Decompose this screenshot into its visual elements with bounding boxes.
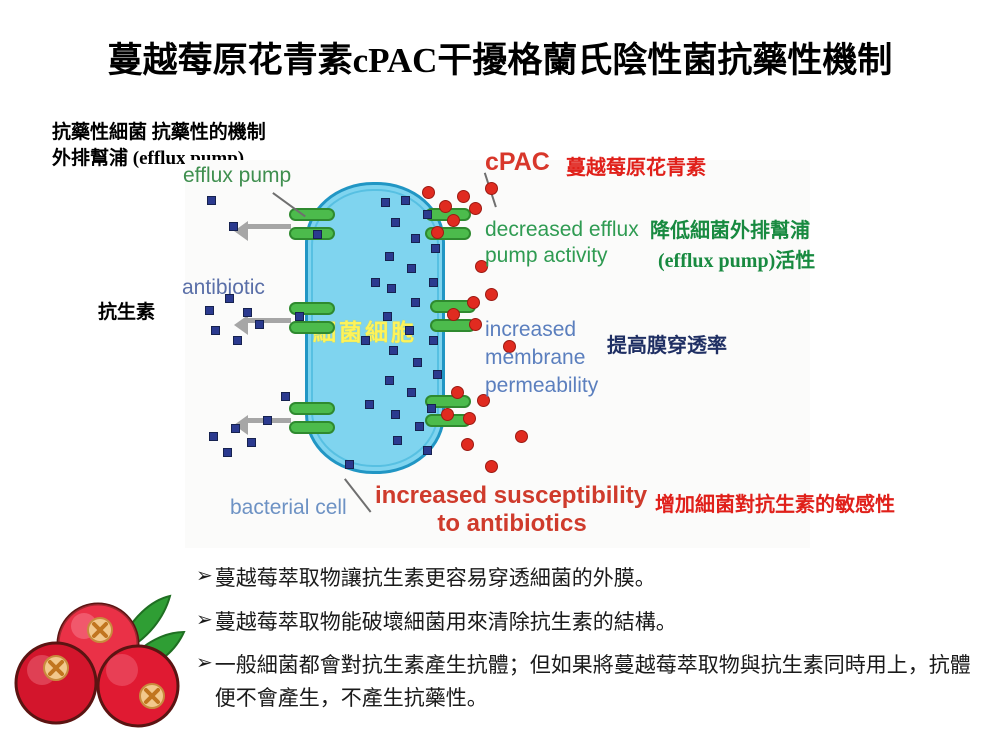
- cpac-particle: [422, 186, 435, 199]
- antibiotic-particle: [415, 422, 424, 431]
- antibiotic-particle: [391, 218, 400, 227]
- cpac-particle: [457, 190, 470, 203]
- antibiotic-particle: [423, 210, 432, 219]
- antibiotic-particle: [393, 436, 402, 445]
- antibiotic-particle: [243, 308, 252, 317]
- efflux-arrow-left-1: [247, 224, 291, 229]
- cpac-particle: [439, 200, 452, 213]
- antibiotic-particle: [407, 264, 416, 273]
- antibiotic-particle: [383, 312, 392, 321]
- antibiotic-particle: [411, 298, 420, 307]
- increased-susceptibility-label-line1: increased susceptibility: [375, 482, 647, 510]
- antibiotic-particle: [211, 326, 220, 335]
- list-item: ➢ 蔓越莓萃取物能破壞細菌用來清除抗生素的結構。: [196, 606, 986, 639]
- decreased-efflux-label-line2: pump activity: [485, 244, 608, 268]
- antibiotic-particle: [229, 222, 238, 231]
- susceptibility-annotation-cn: 增加細菌對抗生素的敏感性: [655, 492, 895, 519]
- leader-line-bacterial-cell: [344, 478, 371, 512]
- antibiotic-particle: [427, 404, 436, 413]
- cpac-label: cPAC: [485, 148, 550, 176]
- antibiotic-particle: [391, 410, 400, 419]
- antibiotic-particle: [431, 244, 440, 253]
- increased-permeability-label-line1: increased: [485, 318, 576, 342]
- antibiotic-particle: [389, 346, 398, 355]
- antibiotic-particle: [205, 306, 214, 315]
- bullet-list: ➢ 蔓越莓萃取物讓抗生素更容易穿透細菌的外膜。 ➢ 蔓越莓萃取物能破壞細菌用來清…: [196, 562, 986, 725]
- antibiotic-particle: [385, 376, 394, 385]
- bacterial-cell-label: bacterial cell: [230, 496, 347, 520]
- cpac-particle: [485, 288, 498, 301]
- antibiotic-particle: [231, 424, 240, 433]
- antibiotic-particle: [407, 388, 416, 397]
- antibiotic-particle: [385, 252, 394, 261]
- efflux-pump-left-1: [289, 208, 335, 242]
- antibiotic-particle: [295, 312, 304, 321]
- bullet-text: 蔓越莓萃取物讓抗生素更容易穿透細菌的外膜。: [215, 562, 986, 595]
- cpac-particle: [469, 318, 482, 331]
- list-item: ➢ 蔓越莓萃取物讓抗生素更容易穿透細菌的外膜。: [196, 562, 986, 595]
- antibiotic-particle: [381, 198, 390, 207]
- antibiotic-label: antibiotic: [182, 276, 265, 300]
- antibiotic-particle: [411, 234, 420, 243]
- antibiotic-particle: [423, 446, 432, 455]
- cpac-particle: [461, 438, 474, 451]
- increased-permeability-label-line3: permeability: [485, 374, 598, 398]
- cpac-particle: [451, 386, 464, 399]
- cpac-particle: [469, 202, 482, 215]
- antibiotic-particle: [433, 370, 442, 379]
- bullet-marker-icon: ➢: [196, 649, 213, 678]
- cpac-particle: [447, 214, 460, 227]
- permeability-annotation-cn: 提高膜穿透率: [607, 333, 727, 360]
- decreased-efflux-label-line1: decreased efflux: [485, 218, 639, 242]
- decreased-efflux-annotation-cn-line1: 降低細菌外排幫浦: [650, 218, 810, 245]
- antibiotic-particle: [233, 336, 242, 345]
- antibiotic-particle: [223, 448, 232, 457]
- antibiotic-label-cn: 抗生素: [98, 300, 155, 326]
- antibiotic-particle: [281, 392, 290, 401]
- list-item: ➢ 一般細菌都會對抗生素產生抗體；但如果將蔓越莓萃取物與抗生素同時用上，抗體便不…: [196, 649, 986, 714]
- antibiotic-particle: [209, 432, 218, 441]
- bullet-marker-icon: ➢: [196, 562, 213, 591]
- cpac-particle: [515, 430, 528, 443]
- efflux-pump-left-3: [289, 402, 335, 436]
- increased-susceptibility-label-line2: to antibiotics: [375, 510, 649, 538]
- antibiotic-particle: [313, 230, 322, 239]
- slide: 蔓越莓原花青素cPAC干擾格蘭氏陰性菌抗藥性機制 抗藥性細菌 抗藥性的機制 外排…: [0, 0, 1000, 750]
- page-title: 蔓越莓原花青素cPAC干擾格蘭氏陰性菌抗藥性機制: [0, 32, 1000, 83]
- cpac-particle: [467, 296, 480, 309]
- bullet-marker-icon: ➢: [196, 606, 213, 635]
- cranberry-illustration: [12, 578, 187, 738]
- cpac-particle: [485, 182, 498, 195]
- increased-permeability-label-line2: membrane: [485, 346, 585, 370]
- antibiotic-particle: [429, 336, 438, 345]
- efflux-arrow-left-2: [247, 318, 291, 323]
- bullet-text: 一般細菌都會對抗生素產生抗體；但如果將蔓越莓萃取物與抗生素同時用上，抗體便不會產…: [215, 649, 986, 714]
- cpac-particle: [447, 308, 460, 321]
- antibiotic-particle: [207, 196, 216, 205]
- antibiotic-particle: [247, 438, 256, 447]
- cpac-particle: [431, 226, 444, 239]
- antibiotic-particle: [255, 320, 264, 329]
- antibiotic-particle: [371, 278, 380, 287]
- cpac-annotation-cn: 蔓越莓原花青素: [566, 155, 706, 182]
- mechanism-heading-line1: 抗藥性細菌 抗藥性的機制: [52, 120, 266, 146]
- antibiotic-particle: [361, 336, 370, 345]
- antibiotic-particle: [365, 400, 374, 409]
- antibiotic-particle: [263, 416, 272, 425]
- antibiotic-particle: [387, 284, 396, 293]
- efflux-pump-label: efflux pump: [183, 164, 291, 188]
- cpac-particle: [441, 408, 454, 421]
- bullet-text: 蔓越莓萃取物能破壞細菌用來清除抗生素的結構。: [215, 606, 986, 639]
- antibiotic-particle: [413, 358, 422, 367]
- decreased-efflux-annotation-cn-line2: (efflux pump)活性: [658, 248, 815, 275]
- cranberry-berry-right: [98, 646, 178, 726]
- cpac-particle: [485, 460, 498, 473]
- cpac-particle: [463, 412, 476, 425]
- antibiotic-particle: [429, 278, 438, 287]
- antibiotic-particle: [401, 196, 410, 205]
- antibiotic-particle: [345, 460, 354, 469]
- cranberry-berry-left: [16, 643, 96, 723]
- antibiotic-particle: [405, 326, 414, 335]
